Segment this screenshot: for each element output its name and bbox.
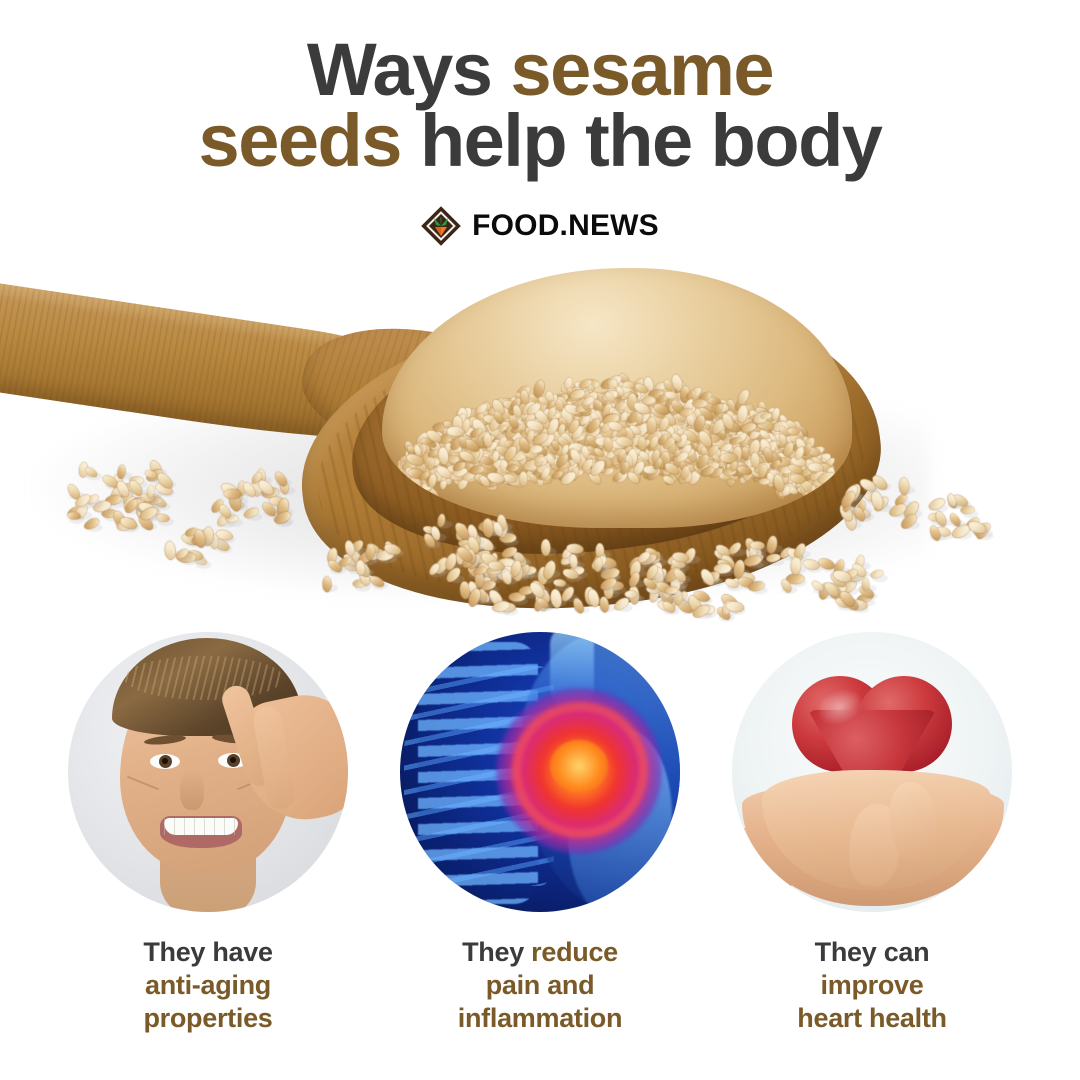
title-line-2: seeds help the body <box>0 105 1080 176</box>
caption-line-3: properties <box>43 1002 373 1035</box>
woman-eye-left <box>150 754 180 769</box>
title-word-seeds: seeds <box>199 99 420 182</box>
hero-image-spoon-sesame-seeds <box>0 248 1080 638</box>
caption-line-2: anti-aging <box>43 969 373 1002</box>
benefit-images-row <box>0 632 1080 914</box>
caption-line-2: pain and <box>375 969 705 1002</box>
caption-line-3: inflammation <box>375 1002 705 1035</box>
pain-hotspot-core <box>550 740 608 792</box>
benefit-image-anti-aging <box>68 632 348 912</box>
caption-pain-inflammation: They reduce pain and inflammation <box>375 936 705 1035</box>
caption-line-1: They reduce <box>375 936 705 969</box>
benefit-image-pain-inflammation <box>400 632 680 912</box>
woman-smile <box>160 816 242 848</box>
caption-line-3: heart health <box>707 1002 1037 1035</box>
title-line-1: Ways sesame <box>0 34 1080 105</box>
caption-line-1: They can <box>707 936 1037 969</box>
brand-logo: FOOD.NEWS <box>0 206 1080 246</box>
caption-heart-health: They can improve heart health <box>707 936 1037 1035</box>
caption-line-1: They have <box>43 936 373 969</box>
woman-nose <box>180 770 204 810</box>
woman-teeth <box>164 818 238 835</box>
benefit-captions-row: They have anti-aging properties They red… <box>0 936 1080 1056</box>
page-title: Ways sesame seeds help the body <box>0 34 1080 176</box>
brand-wordmark: FOOD.NEWS <box>472 209 659 243</box>
diamond-leaf-carrot-icon <box>421 206 461 246</box>
caption-line-2: improve <box>707 969 1037 1002</box>
title-rest-help-the-body: help the body <box>420 99 882 182</box>
benefit-image-heart-health <box>732 632 1012 912</box>
scattered-sesame-seeds <box>0 248 1080 638</box>
caption-anti-aging: They have anti-aging properties <box>43 936 373 1035</box>
